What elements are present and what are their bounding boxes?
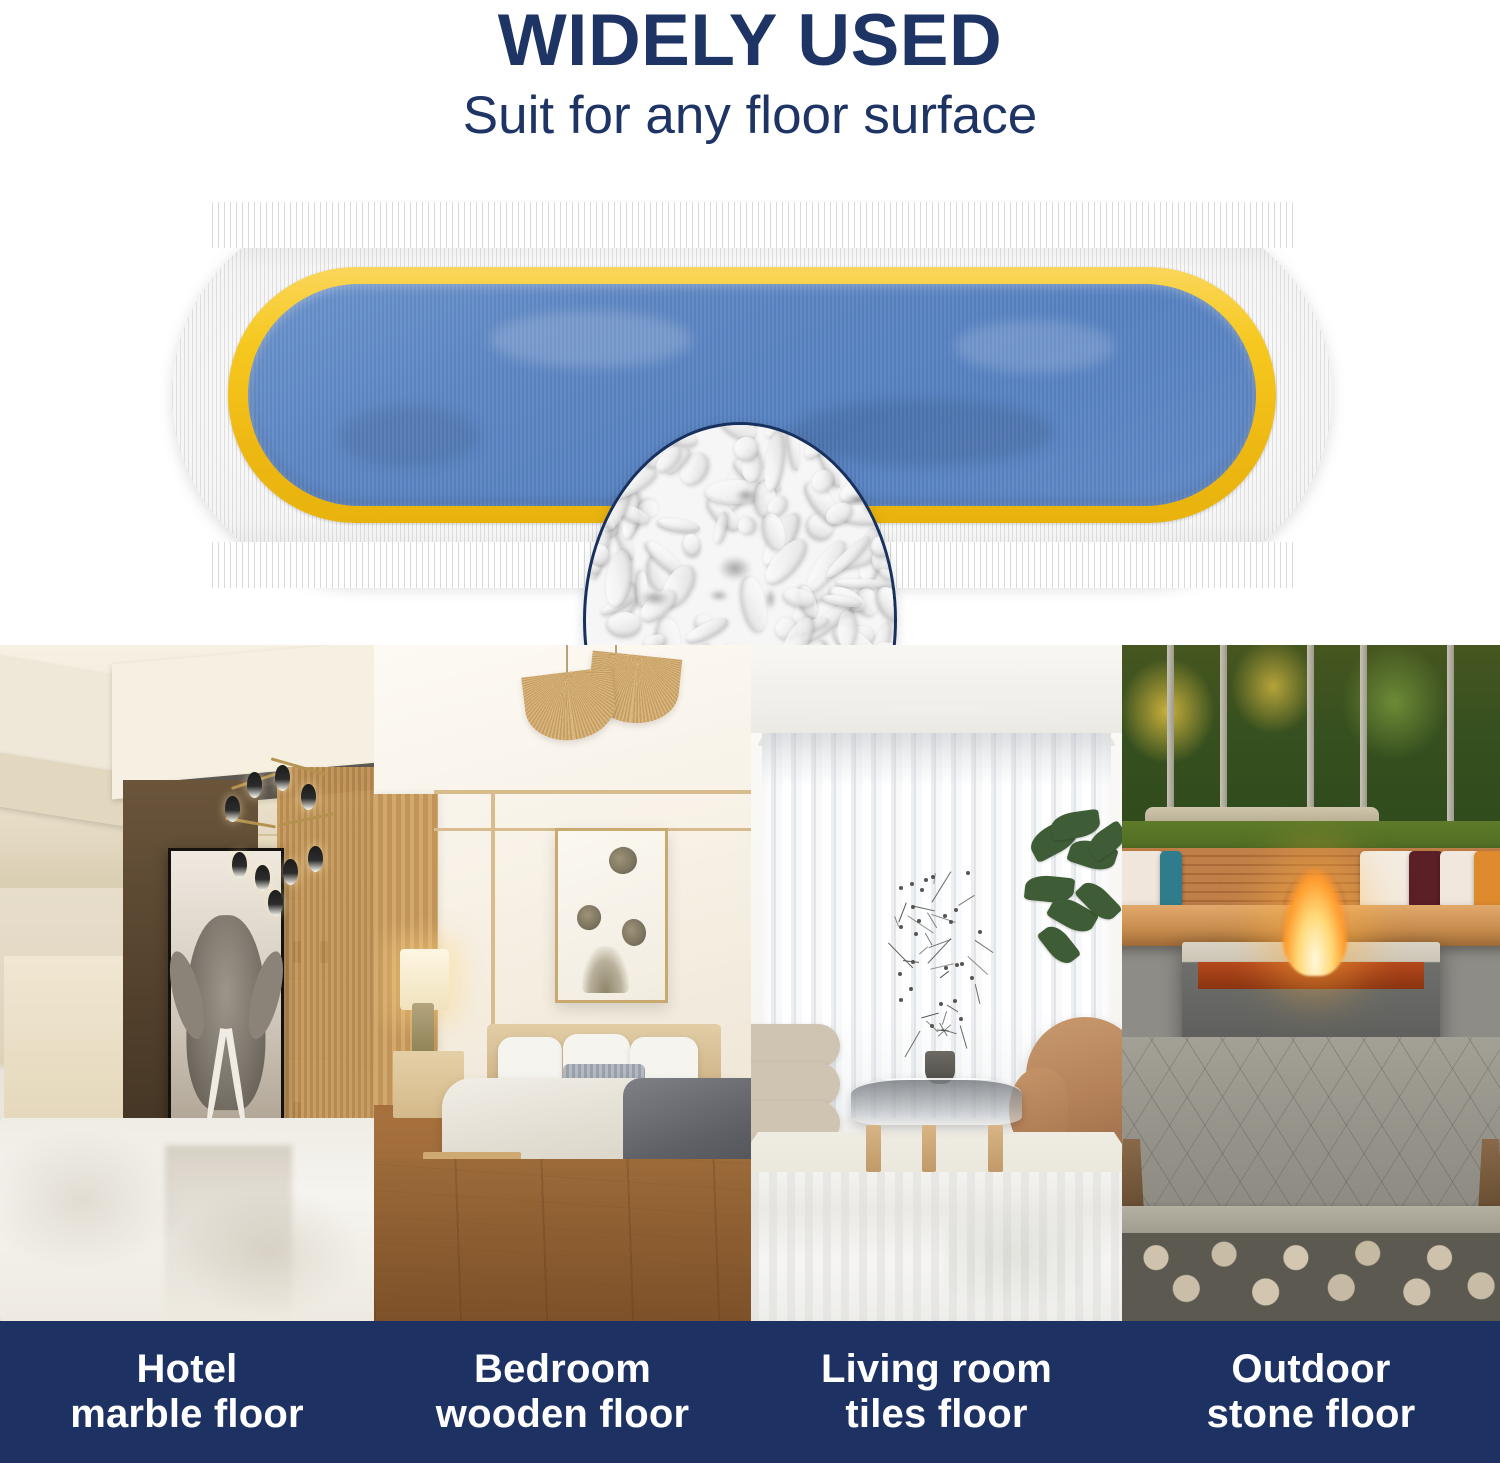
yarn-texture xyxy=(583,422,897,645)
caption-line-1: Bedroom xyxy=(474,1347,651,1392)
glass-coffee-table xyxy=(851,1078,1022,1125)
product-hero xyxy=(0,200,1500,645)
chandelier xyxy=(217,672,344,983)
cobblestone-floor xyxy=(1122,1233,1500,1321)
fabric-wrinkle xyxy=(954,320,1115,373)
wooden-floor xyxy=(374,1159,751,1321)
caption-outdoor: Outdoor stone floor xyxy=(1122,1321,1500,1463)
throw-pillow xyxy=(1474,851,1500,908)
fabric-wrinkle xyxy=(339,406,480,468)
throw-pillow xyxy=(1409,851,1443,908)
caption-line-1: Living room xyxy=(821,1347,1052,1392)
scene-panel-living-room xyxy=(751,645,1122,1321)
fire-flame xyxy=(1281,868,1349,976)
table-leg xyxy=(866,1125,881,1172)
throw-pillow xyxy=(1122,851,1164,908)
caption-line-1: Hotel xyxy=(137,1347,238,1392)
tree-trunk xyxy=(1447,645,1454,828)
caption-hotel: Hotel marble floor xyxy=(0,1321,374,1463)
table-lamp-base xyxy=(412,1003,435,1057)
caption-line-2: tiles floor xyxy=(845,1392,1027,1437)
tree-trunk xyxy=(1167,645,1174,828)
table-lamp-shade xyxy=(400,949,449,1010)
table-leg xyxy=(988,1125,1003,1172)
caption-line-2: marble floor xyxy=(70,1392,304,1437)
leaf-motif xyxy=(607,845,640,877)
caption-bar: Hotel marble floor Bedroom wooden floor … xyxy=(0,1321,1500,1463)
lotus-leaf-motif xyxy=(582,946,629,994)
fabric-wrinkle xyxy=(490,311,692,369)
caption-bedroom: Bedroom wooden floor xyxy=(374,1321,751,1463)
tree-trunk xyxy=(1307,645,1314,828)
table-leg xyxy=(922,1125,937,1172)
caption-living-room: Living room tiles floor xyxy=(751,1321,1122,1463)
scene-panel-outdoor xyxy=(1122,645,1500,1321)
fringe-tips-top xyxy=(210,202,1294,248)
caption-line-2: stone floor xyxy=(1207,1392,1416,1437)
throw-pillow xyxy=(1160,851,1183,908)
scene-panel-hotel xyxy=(0,645,374,1321)
caption-line-1: Outdoor xyxy=(1231,1347,1390,1392)
herringbone-paver-patio xyxy=(1122,1037,1500,1220)
elephant-tusks xyxy=(204,1028,248,1132)
page-subtitle: Suit for any floor surface xyxy=(0,88,1500,144)
floor-scene-strip xyxy=(0,645,1500,1321)
header: WIDELY USED Suit for any floor surface xyxy=(0,0,1500,200)
branch-arrangement xyxy=(896,868,985,1071)
scene-panel-bedroom xyxy=(374,645,751,1321)
leaf-motif xyxy=(574,902,604,933)
caption-line-2: wooden floor xyxy=(436,1392,689,1437)
glossy-tile-floor xyxy=(751,1172,1122,1321)
tree-trunk xyxy=(1360,645,1367,828)
wall-trim xyxy=(434,790,751,794)
botanical-artwork-frame xyxy=(555,828,668,1004)
floor-reflection xyxy=(165,1145,292,1321)
tree-trunk xyxy=(1220,645,1227,828)
yarn-closeup-magnifier xyxy=(583,422,897,645)
monstera-plant xyxy=(1018,807,1122,1023)
leaf-motif xyxy=(620,917,647,947)
page-title: WIDELY USED xyxy=(0,4,1500,78)
